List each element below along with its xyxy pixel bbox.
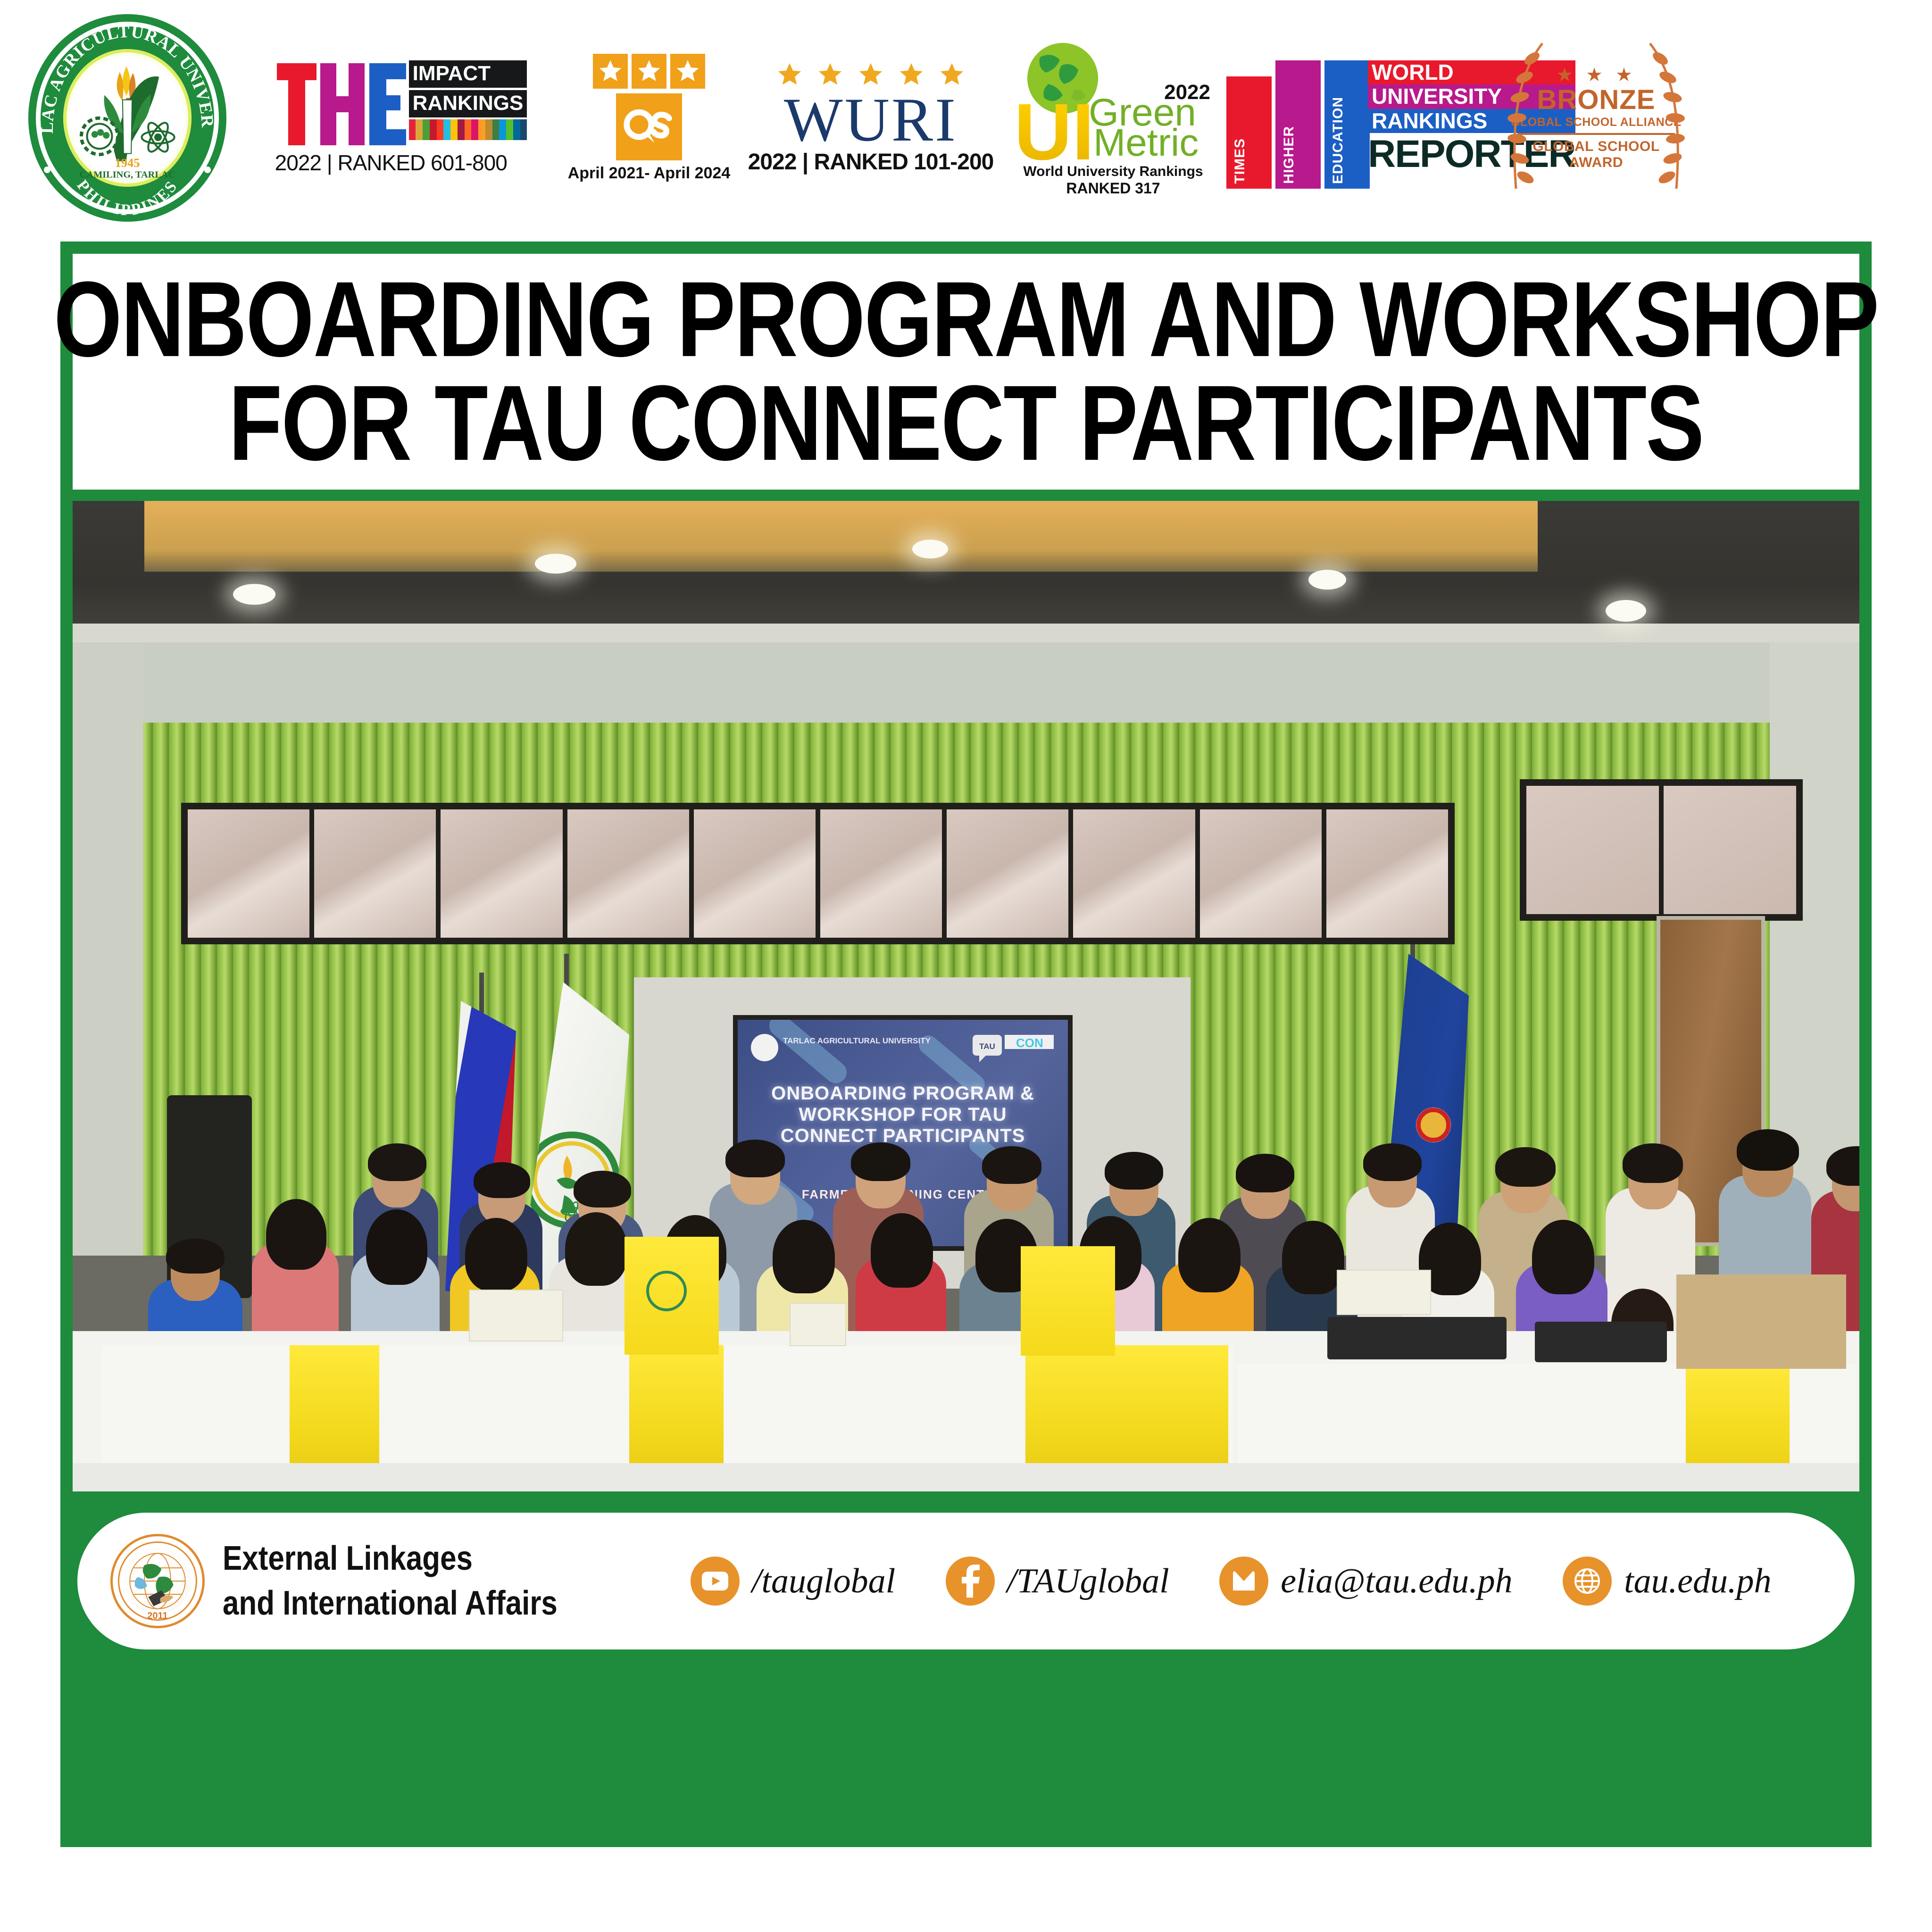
tau-tote-bag — [1021, 1246, 1115, 1356]
device-case — [1535, 1322, 1667, 1362]
the-acronym-icon — [275, 60, 407, 145]
facebook-handle[interactable]: /TAUglobal — [1007, 1561, 1169, 1601]
wuri-star-row — [776, 61, 966, 88]
accreditation-badge-strip: TARLAC AGRICULTURAL UNIVERSITY PHILIPPIN… — [0, 0, 1932, 236]
the-vertical-higher: HIGHER — [1281, 126, 1297, 184]
seal-emblem-icon: 1945 CAMILING, TARLAC — [70, 52, 185, 182]
paper-stack — [1337, 1270, 1431, 1315]
svg-text:PHILIPPINES: PHILIPPINES — [73, 177, 181, 219]
uigm-caption-2: RANKED 317 — [1014, 180, 1212, 197]
email-address[interactable]: elia@tau.edu.ph — [1281, 1561, 1512, 1601]
badge-wuri: WURI 2022 | RANKED 101-200 — [743, 61, 998, 175]
page-title-line-2: FOR TAU CONNECT PARTICIPANTS — [229, 370, 1704, 477]
qs-logo-icon — [616, 93, 682, 160]
youtube-icon[interactable] — [691, 1557, 740, 1606]
svg-text:1945: 1945 — [115, 156, 140, 170]
tau-university-seal: TARLAC AGRICULTURAL UNIVERSITY PHILIPPIN… — [28, 14, 226, 222]
laptop — [1327, 1317, 1507, 1359]
the-rankings-tag: RANKINGS — [409, 90, 527, 117]
gift-box — [469, 1290, 563, 1341]
ceiling-light-icon — [912, 540, 948, 558]
the-impact-tag: IMPACT — [409, 60, 527, 88]
laurel-right-icon — [1643, 38, 1690, 198]
office-name-line-1: External Linkages — [223, 1536, 558, 1581]
laurel-left-icon — [1502, 38, 1549, 198]
svg-text:CAMILING, TARLAC: CAMILING, TARLAC — [80, 169, 175, 180]
elia-seal-year: 2011 — [110, 1611, 205, 1622]
contact-website[interactable]: tau.edu.ph — [1563, 1557, 1771, 1606]
contact-pill: 2011 External Linkages and International… — [77, 1513, 1855, 1649]
envelope — [1676, 1274, 1846, 1369]
email-icon[interactable] — [1219, 1557, 1268, 1606]
office-name-line-2: and International Affairs — [223, 1581, 558, 1626]
slide-university-seal-icon — [751, 1034, 778, 1061]
slide-title: ONBOARDING PROGRAM & WORKSHOP FOR TAU CO… — [758, 1083, 1048, 1146]
star-icon — [898, 61, 925, 88]
window-row-left — [181, 803, 1455, 944]
star-icon — [776, 61, 803, 88]
uigm-caption-1: World University Rankings — [1014, 164, 1212, 180]
badge-ui-greenmetric: 2022 UI Green Metric World University Ra… — [1014, 40, 1212, 196]
ceiling-light-icon — [233, 584, 275, 605]
svg-text:TAU: TAU — [979, 1042, 995, 1051]
star-icon — [632, 54, 666, 89]
badge-qs-stars: April 2021- April 2024 — [578, 54, 720, 183]
star-icon — [593, 54, 628, 89]
star-icon — [670, 54, 705, 89]
badge-the-impact-rankings: IMPACT RANKINGS 2022 | RANKED 601-800 — [250, 60, 552, 175]
the-vertical-education: EDUCATION — [1330, 97, 1346, 184]
svg-text:CON: CON — [1016, 1036, 1043, 1050]
wuri-wordmark: WURI — [784, 90, 958, 149]
office-name: External Linkages and International Affa… — [223, 1536, 612, 1626]
slide-org-name: TARLAC AGRICULTURAL UNIVERSITY — [783, 1036, 931, 1046]
star-icon — [857, 61, 884, 88]
window-row-right — [1520, 779, 1803, 921]
qs-caption: April 2021- April 2024 — [568, 164, 731, 183]
poster-title-box: ONBOARDING PROGRAM AND WORKSHOP FOR TAU … — [73, 254, 1859, 490]
facebook-icon[interactable] — [946, 1557, 995, 1606]
wuri-caption: 2022 | RANKED 101-200 — [748, 149, 994, 175]
elia-office-seal: 2011 — [110, 1534, 205, 1628]
contact-email[interactable]: elia@tau.edu.ph — [1219, 1557, 1512, 1606]
youtube-handle[interactable]: /tauglobal — [752, 1561, 895, 1601]
uigm-metric-wordmark: Metric — [1093, 126, 1199, 160]
contact-facebook[interactable]: /TAUglobal — [946, 1557, 1169, 1606]
ceiling-light-icon — [1606, 600, 1646, 622]
poster-frame: ONBOARDING PROGRAM AND WORKSHOP FOR TAU … — [60, 241, 1872, 1847]
sdg-color-bar — [409, 119, 527, 140]
globe-icon[interactable] — [1563, 1557, 1612, 1606]
star-icon — [816, 61, 844, 88]
badge-bronze-global-school-award: ★ ★ ★ BRONZE GLOBAL SCHOOL ALLIANCE GLOB… — [1502, 38, 1690, 198]
the-vertical-times: TIMES — [1232, 138, 1248, 184]
gift-box — [790, 1303, 846, 1346]
website-url[interactable]: tau.edu.ph — [1624, 1561, 1771, 1601]
event-group-photo: TARLAC AGRICULTURAL UNIVERSITY TAU CON O… — [73, 501, 1859, 1491]
contact-youtube[interactable]: /tauglobal — [691, 1557, 895, 1606]
footer-bar: 2011 External Linkages and International… — [73, 1491, 1859, 1671]
star-icon — [938, 61, 966, 88]
the-impact-caption: 2022 | RANKED 601-800 — [275, 150, 527, 175]
ceiling-light-icon — [1308, 570, 1346, 590]
contact-list: /tauglobal /TAUglobal — [640, 1557, 1822, 1606]
qs-star-row — [593, 54, 705, 89]
slide-tau-connect-logo-icon: TAU CON — [971, 1032, 1056, 1065]
uigm-ui-wordmark: UI — [1014, 92, 1094, 172]
ceiling-light-icon — [535, 554, 576, 574]
page-title-line-1: ONBOARDING PROGRAM AND WORKSHOP — [54, 266, 1878, 374]
badge-the-wur-reporter: TIMES HIGHER EDUCATION WORLD UNIVERSITY … — [1226, 47, 1491, 189]
